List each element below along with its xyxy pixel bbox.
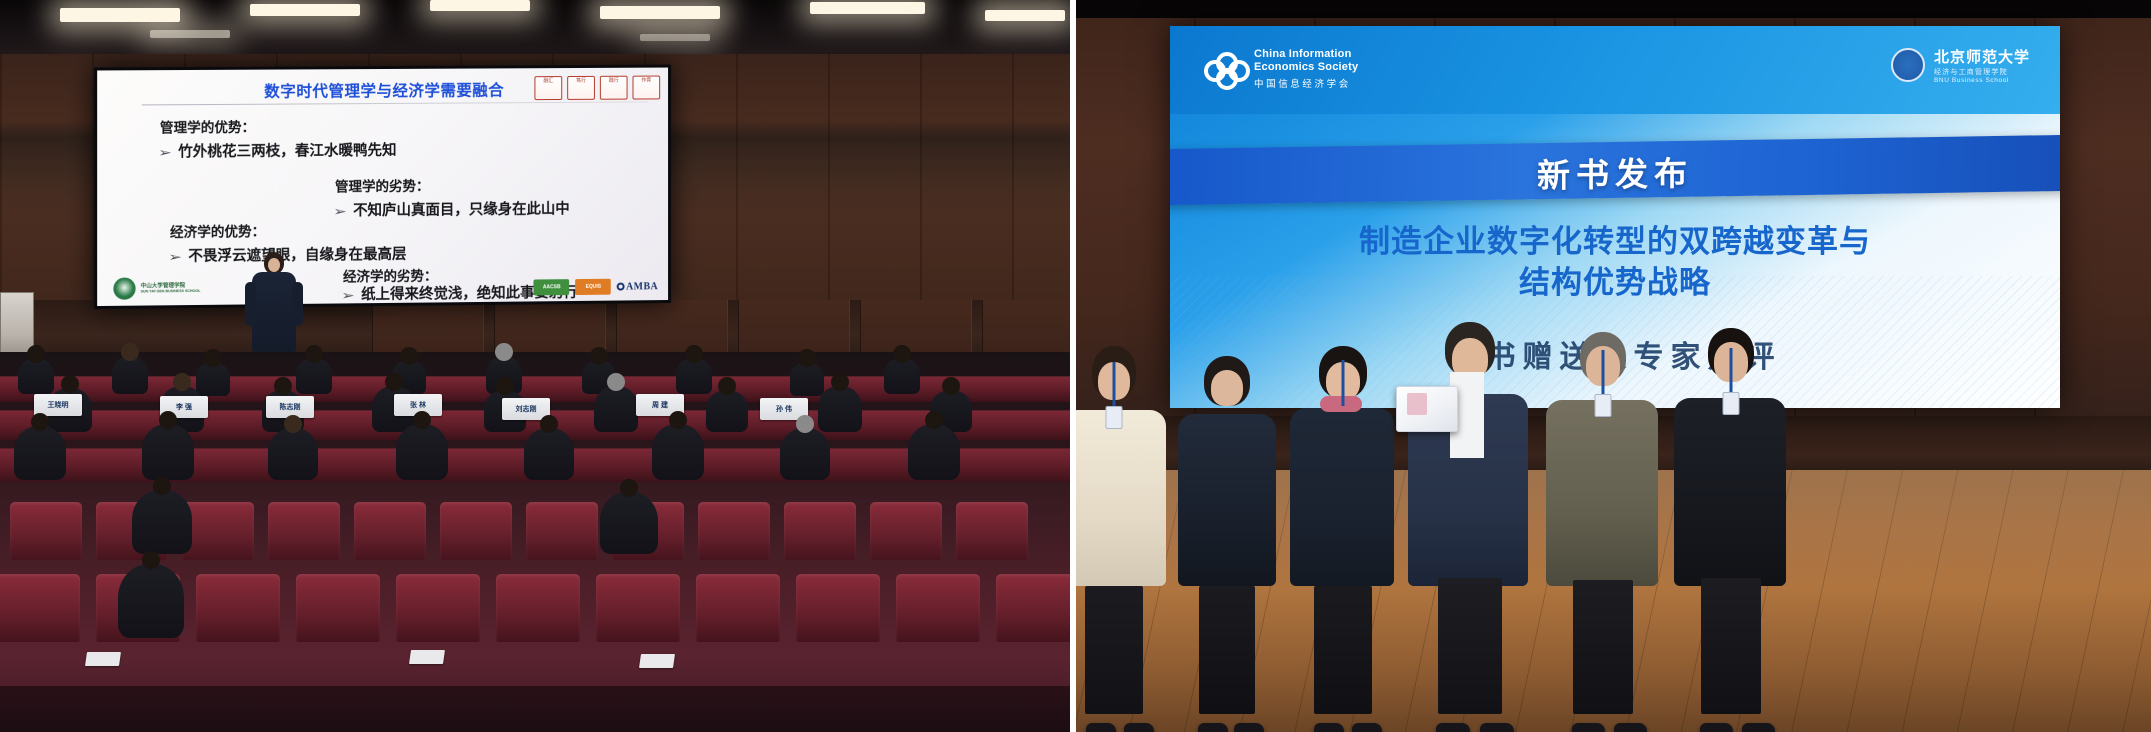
bullet-marker-icon: ➢ [341,288,355,302]
person-coat [1674,398,1786,586]
screenshot-root: 数字时代管理学与经济学需要融合 融汇 笃行 践行 作育 管理学的优势： ➢竹外桃… [0,0,2151,732]
society-emblem-icon [1204,52,1244,86]
society-logo: China Information Economics Society 中国信息… [1204,48,1358,90]
ceiling-light [430,0,530,11]
presenter-body [252,272,296,352]
university-seal-icon [1891,48,1925,82]
auditorium-chair [396,574,480,642]
university-school-cn: 经济与工商管理学院 [1934,67,2030,77]
person-legs [1199,586,1255,714]
person-shoe [1436,723,1470,732]
slide-bullet-text: 竹外桃花三两枝，春江水暖鸭先知 [178,143,396,161]
auditorium-chair [268,502,340,560]
calligraphy-stamp: 融汇 [534,76,562,100]
book-title-line-1: 制造企业数字化转型的双跨越变革与 [1210,222,2020,263]
society-name-en-1: China Information [1254,48,1358,61]
audience-head [798,349,816,367]
book-title: 制造企业数字化转型的双跨越变革与 结构优势战略 [1210,222,2020,304]
audience-head [831,373,849,391]
audience-head [121,343,139,361]
auditorium-chair [870,502,942,560]
person-shoe [1314,723,1344,732]
lanyard [1342,360,1345,406]
audience-person [524,428,574,480]
badge-amba: AMBA [617,281,658,292]
audience-head [305,345,323,363]
audience-person [196,362,230,396]
auditorium-chair [354,502,426,560]
audience-head [385,373,403,391]
audience-head [540,415,558,433]
audience-person [600,492,658,554]
audience-head [61,375,79,393]
name-badge [1106,406,1123,429]
audience-person [594,386,638,432]
accreditation-badges: AACSB EQUIS AMBA [534,278,658,295]
audience-seating-area: 王晓明 李 强 陈志刚 张 林 刘志刚 周 建 孙 伟 [0,352,1074,732]
audience-person [818,386,862,432]
amba-dot-icon [617,282,625,290]
auditorium-chair [440,502,512,560]
ceremony-person-3 [1274,354,1412,586]
auditorium-chair [10,502,82,560]
audience-head [159,411,177,429]
person-legs [1573,580,1633,714]
person-face [1211,370,1243,406]
ceremony-person-5 [1532,344,1674,586]
slide-bullet-mgmt-advantage: ➢竹外桃花三两枝，春江水暖鸭先知 [160,139,397,162]
audience-person [112,356,148,394]
university-logo-text: 北京师范大学 经济与工商管理学院 BNU Business School [1934,46,2030,84]
badge-amba-label: AMBA [626,281,658,292]
ceiling-light [600,6,720,19]
audience-head [620,479,638,497]
audience-head [590,347,608,365]
auditorium-chair [896,574,980,642]
person-shoe [1198,723,1228,732]
lanyard [1113,362,1116,408]
name-badge [1723,392,1740,415]
university-name-en: BNU Business School [1934,77,2030,84]
auditorium-chair [0,574,80,642]
presenter-face [268,258,280,272]
audience-person [780,428,830,480]
school-emblem-icon [113,277,135,299]
lanyard [1602,350,1605,396]
right-photo-panel: China Information Economics Society 中国信息… [1074,0,2151,732]
ceiling-light [810,2,925,14]
audience-head [893,345,911,363]
audience-person [652,424,704,480]
left-photo-panel: 数字时代管理学与经济学需要融合 融汇 笃行 践行 作育 管理学的优势： ➢竹外桃… [0,0,1074,732]
slide-heading-econ-advantage: 经济学的优势： [170,220,265,241]
school-logo-text: 中山大学管理学院 SUN YAT-SEN BUSINESS SCHOOL [141,283,201,294]
audience-head [400,347,418,365]
audience-head [31,413,49,431]
auditorium-chair [996,574,1074,642]
university-logo: 北京师范大学 经济与工商管理学院 BNU Business School [1891,46,2030,84]
person-legs [1438,578,1502,714]
ceremony-person-4 [1394,338,1546,586]
ceiling-light [640,34,710,41]
ceiling-light [60,8,180,22]
audience-person [118,564,184,638]
audience-head [925,411,943,429]
person-shoe [1614,723,1647,732]
auditorium-chair [196,574,280,642]
auditorium-chair [596,574,680,642]
book-ribbon [1407,393,1427,415]
person-shoe [1700,723,1733,732]
projection-screen: 数字时代管理学与经济学需要融合 融汇 笃行 践行 作育 管理学的优势： ➢竹外桃… [94,65,671,310]
audience-head [27,345,45,363]
auditorium-chair [698,502,770,560]
auditorium-ceiling [0,0,1074,62]
audience-person [676,358,712,394]
ceiling-light [985,10,1065,21]
presentation-slide: 数字时代管理学与经济学需要融合 融汇 笃行 践行 作育 管理学的优势： ➢竹外桃… [97,68,668,306]
audience-person [908,424,960,480]
bullet-marker-icon: ➢ [333,204,347,218]
person-coat [1074,410,1166,586]
auditorium-chair [182,502,254,560]
society-name-en-2: Economics Society [1254,61,1358,74]
audience-person [396,424,448,480]
person-coat [1546,400,1658,586]
name-badge [1595,394,1612,417]
panel-divider [1070,0,1076,732]
calligraphy-stamp: 作育 [633,76,661,100]
person-shoe [1086,723,1116,732]
ceremony-person-2 [1162,360,1292,586]
paper-handout [409,650,445,664]
book-title-line-2: 结构优势战略 [1210,263,2020,304]
auditorium-chair [696,574,780,642]
school-logo: 中山大学管理学院 SUN YAT-SEN BUSINESS SCHOOL [113,277,200,300]
person-shoe [1572,723,1605,732]
audience-head [413,411,431,429]
audience-person [790,362,824,396]
badge-aacsb: AACSB [534,279,570,295]
audience-person [18,358,54,394]
lanyard [1730,348,1733,394]
calligraphy-stamp: 笃行 [567,76,595,100]
ceiling-light [150,30,230,38]
person-legs [1085,586,1143,714]
slide-title-rule [142,101,649,105]
person-shoe [1124,723,1154,732]
school-name-en: SUN YAT-SEN BUSINESS SCHOOL [141,289,201,294]
person-legs [1314,586,1372,714]
slide-bullet-text: 不知庐山真面目，只缘身在此山中 [353,201,570,219]
audience-person [142,424,194,480]
auditorium-chair [784,502,856,560]
auditorium-chair [526,502,598,560]
audience-head [669,411,687,429]
audience-head [942,377,960,395]
society-logo-text: China Information Economics Society 中国信息… [1254,48,1358,90]
presenter-arm-left [245,282,256,326]
audience-head [284,415,302,433]
audience-person [706,390,748,432]
bullet-marker-icon: ➢ [168,250,182,264]
presenter-figure [248,252,300,352]
audience-person [884,358,920,394]
audience-head [495,343,513,361]
society-name-cn: 中国信息经济学会 [1254,76,1358,90]
slide-bullet-mgmt-disadvantage: ➢不知庐山真面目，只缘身在此山中 [335,197,570,220]
auditorium-chair [956,502,1028,560]
person-shoe [1234,723,1264,732]
new-book-handover [1396,386,1458,432]
auditorium-chair [796,574,880,642]
calligraphy-stamp-group: 融汇 笃行 践行 作育 [534,76,660,101]
person-shoe [1352,723,1382,732]
university-name-cn: 北京师范大学 [1934,46,2030,67]
audience-person [14,426,66,480]
audience-head [607,373,625,391]
ceiling-light [250,4,360,16]
paper-handout [85,652,121,666]
person-coat [1290,408,1394,586]
audience-head [204,349,222,367]
presenter-arm-right [292,282,303,326]
audience-person [132,490,192,554]
ceremony-person-6 [1660,342,1802,586]
audience-head [274,377,292,395]
audience-person [296,358,332,394]
paper-handout [639,654,675,668]
audience-person [268,428,318,480]
slide-heading-mgmt-advantage: 管理学的优势： [160,116,255,137]
person-legs [1701,578,1761,714]
audience-head [153,477,171,495]
person-coat [1178,414,1276,586]
person-shoe [1480,723,1514,732]
audience-head [796,415,814,433]
bullet-marker-icon: ➢ [158,145,172,159]
slide-heading-mgmt-disadvantage: 管理学的劣势： [335,175,429,196]
audience-head [685,345,703,363]
auditorium-chair [496,574,580,642]
badge-equis: EQUIS [576,279,612,295]
calligraphy-stamp: 践行 [600,76,628,100]
audience-head [496,377,514,395]
auditorium-chair [296,574,380,642]
audience-head [718,377,736,395]
audience-head [173,373,191,391]
aisle-floor [0,686,1074,732]
person-shoe [1742,723,1775,732]
audience-head [142,551,160,569]
